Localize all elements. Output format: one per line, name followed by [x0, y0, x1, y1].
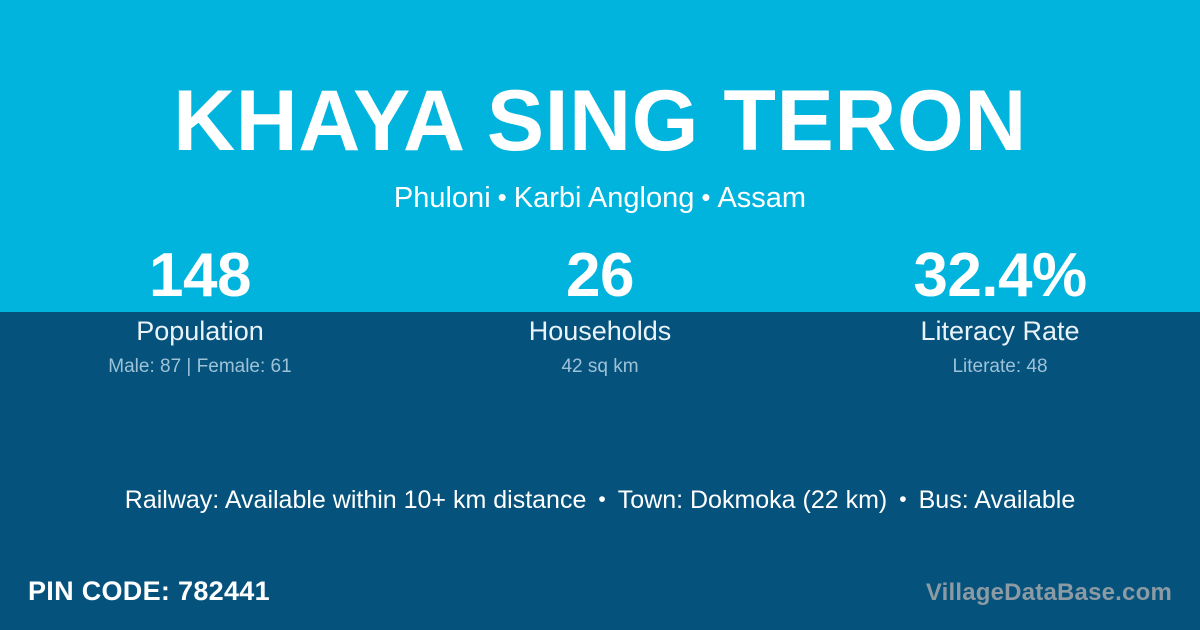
stat-households: 26 Households 42 sq km — [400, 240, 800, 380]
infra-railway: Railway: Available within 10+ km distanc… — [125, 486, 587, 514]
stat-households-detail: 42 sq km — [400, 354, 800, 380]
breadcrumb-state: Assam — [717, 182, 806, 214]
infrastructure-line: Railway: Available within 10+ km distanc… — [0, 484, 1200, 516]
infra-separator-1: • — [586, 488, 617, 511]
village-info-card: KHAYA SING TERON Phuloni•Karbi Anglong•A… — [0, 0, 1200, 630]
infra-bus: Bus: Available — [919, 486, 1076, 514]
breadcrumb: Phuloni•Karbi Anglong•Assam — [0, 181, 1200, 216]
brand-watermark: VillageDataBase.com — [926, 578, 1172, 608]
breadcrumb-separator-1: • — [491, 182, 514, 212]
stat-literacy-label: Literacy Rate — [800, 314, 1200, 348]
stat-households-value: 26 — [400, 240, 800, 312]
breadcrumb-district: Karbi Anglong — [514, 182, 695, 214]
stat-population-label: Population — [0, 314, 400, 348]
stat-households-label: Households — [400, 314, 800, 348]
stat-population-value: 148 — [0, 240, 400, 312]
stat-population-detail: Male: 87 | Female: 61 — [0, 354, 400, 380]
breadcrumb-block: Phuloni — [394, 182, 491, 214]
stats-row: 148 Population Male: 87 | Female: 61 26 … — [0, 240, 1200, 380]
infra-separator-2: • — [887, 488, 918, 511]
stat-literacy-value: 32.4% — [800, 240, 1200, 312]
stat-literacy: 32.4% Literacy Rate Literate: 48 — [800, 240, 1200, 380]
infra-town: Town: Dokmoka (22 km) — [618, 486, 888, 514]
stat-population: 148 Population Male: 87 | Female: 61 — [0, 240, 400, 380]
pin-code: PIN CODE: 782441 — [28, 574, 270, 608]
stat-literacy-detail: Literate: 48 — [800, 354, 1200, 380]
page-title: KHAYA SING TERON — [0, 78, 1200, 164]
breadcrumb-separator-2: • — [694, 182, 717, 212]
